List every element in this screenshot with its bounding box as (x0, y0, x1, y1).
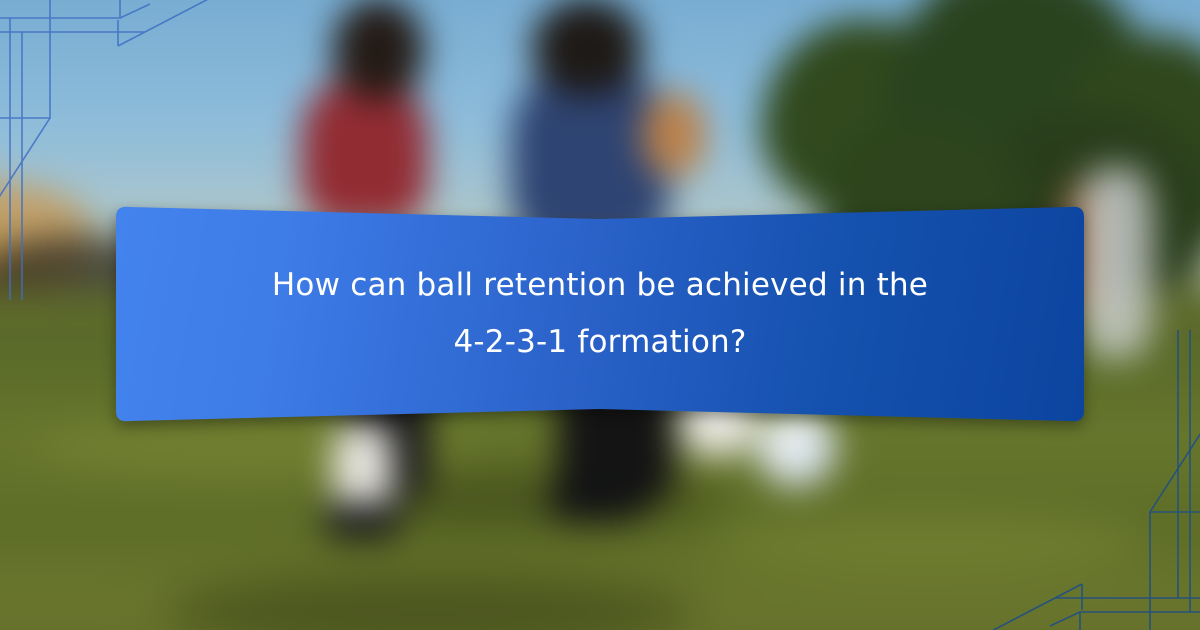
player-two-arm (642, 92, 706, 177)
og-image-canvas: How can ball retention be achieved in th… (0, 0, 1200, 630)
banner-title: How can ball retention be achieved in th… (100, 203, 1100, 425)
headline-banner: How can ball retention be achieved in th… (100, 203, 1100, 425)
grass-streak (706, 511, 1151, 575)
player-two-head (532, 0, 642, 96)
player-two-shoe (549, 479, 644, 521)
banner-title-line-1: How can ball retention be achieved in th… (272, 257, 928, 314)
player-one-shoe (324, 503, 400, 539)
banner-title-line-2: 4-2-3-1 formation? (453, 314, 746, 371)
player-one-head (333, 0, 424, 100)
